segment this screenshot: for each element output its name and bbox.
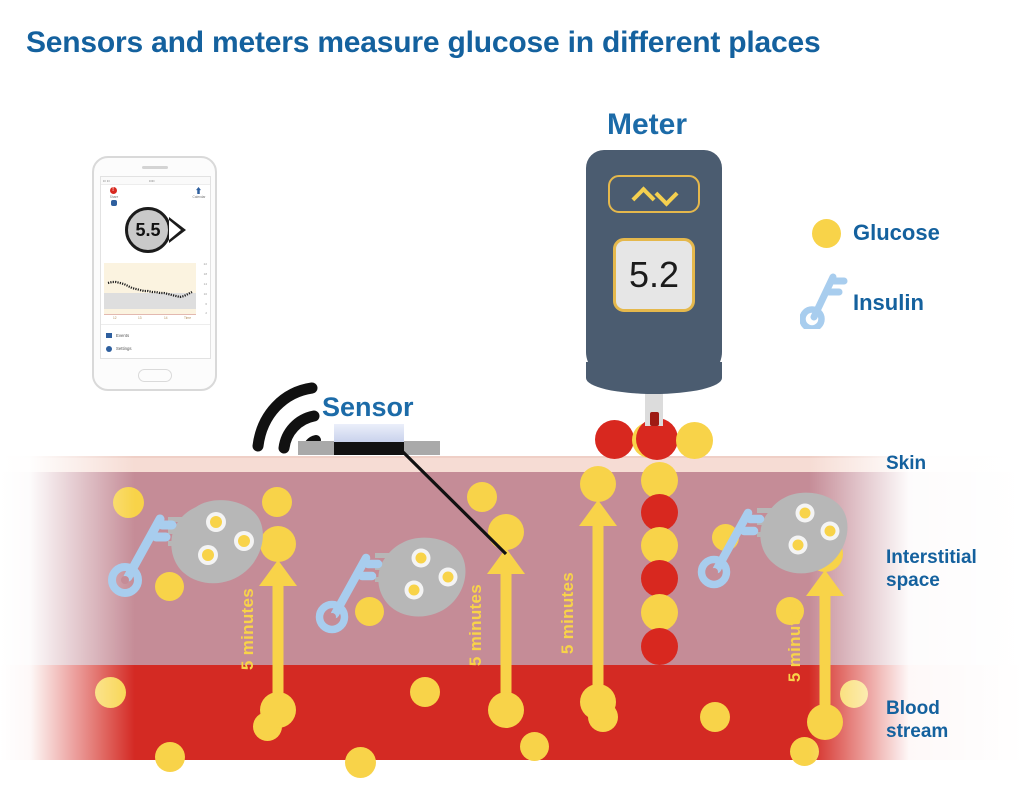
red-blood-cell [641,494,678,531]
red-blood-cell [641,560,678,597]
y-tick: 14 [204,282,207,286]
blood-drop-icon [650,412,659,426]
nav-label: Events [116,333,129,338]
glucose-molecule [155,742,185,772]
status-left-text: •• •• [103,178,110,183]
gear-icon [106,346,112,352]
layer-label-blood: Blood stream [886,697,948,743]
meter-display: 5.2 [613,238,695,312]
arrow-label: 5 minutes [238,588,258,670]
meter-label: Meter [607,108,687,142]
arrow-shaft [593,520,604,692]
body-cell [158,495,268,590]
glucose-molecule [345,747,376,778]
x-tick: Time [184,316,191,320]
glucose-molecule [641,527,678,564]
y-tick: 6 [205,302,207,306]
y-tick: 18 [204,272,207,276]
phone-status-bar: •• •• •••• [101,177,211,185]
glucose-molecule [676,422,713,459]
phone-footer-nav: Events Settings [101,324,211,358]
chevron-up-icon[interactable] [634,186,651,203]
glucose-molecule [700,702,730,732]
nav-label: Settings [116,346,132,351]
nav-item-settings[interactable]: Settings [106,346,132,351]
layer-label-line1: Interstitial [886,546,977,569]
share-icon-label: Share [101,195,127,199]
glucose-molecule [410,677,440,707]
chevron-down-icon[interactable] [657,186,674,203]
diffusion-arrow: 5 minutes [797,570,853,710]
phone-speaker [142,166,168,169]
sensor-adhesive-left [298,441,336,455]
insulin-key-icon [318,545,380,631]
sensor-transmitter-top [334,424,404,442]
y-tick: 22 [204,262,207,266]
phone-screen[interactable]: •• •• •••• Share Calendar 5.5 [100,176,211,359]
layer-label-line2: space [886,569,977,592]
phone-glucose-chart[interactable]: 22 18 14 10 6 2 12 13 14 Time [104,263,209,325]
alert-badge-icon[interactable] [110,187,117,194]
trend-arrow-inner [169,220,181,240]
glucose-circle-icon [812,219,841,248]
glucose-molecule [488,692,524,728]
layer-label-skin: Skin [886,452,926,475]
trend-icon[interactable] [111,200,117,206]
glucose-molecule [790,737,819,766]
nav-item-events[interactable]: Events [106,333,129,338]
cgm-sensor-patch[interactable] [298,424,410,460]
smartphone-app[interactable]: •• •• •••• Share Calendar 5.5 [92,156,217,391]
diffusion-arrow: 5 minutes [478,548,534,700]
phone-icon-row: Share Calendar [101,186,211,208]
layer-label-line1: Blood [886,697,948,720]
insulin-key-icon [700,500,762,586]
legend-label-glucose: Glucose [853,220,940,246]
sensor-label: Sensor [322,392,414,423]
legend-label-insulin: Insulin [853,290,924,316]
glucose-molecule [260,692,296,728]
glucose-meter[interactable]: 5.2 [586,150,722,378]
meter-navigation-buttons[interactable] [608,175,700,213]
glucose-molecule [580,466,616,502]
chart-x-axis: 12 13 14 Time [104,315,209,323]
arrow-shaft [820,590,831,712]
events-icon [106,333,112,338]
glucose-molecule [641,594,678,631]
body-cell [748,488,852,580]
x-tick: 14 [164,316,168,320]
page-title: Sensors and meters measure glucose in di… [26,26,821,60]
chart-trace [104,263,196,315]
layer-label-interstitial: Interstitial space [886,546,977,592]
phone-home-button[interactable] [138,369,172,382]
arrow-shaft [273,580,284,700]
x-tick: 13 [138,316,142,320]
arrow-label: 5 minutes [558,572,578,654]
glucose-molecule [807,704,843,740]
red-blood-cell [595,420,634,459]
arrow-label: 5 minutes [785,600,805,682]
insulin-key-icon [800,267,848,329]
x-tick: 12 [113,316,117,320]
glucose-molecule [580,684,616,720]
insulin-key-icon [110,505,174,595]
sensor-filament [398,449,516,559]
calendar-icon[interactable] [196,187,201,194]
phone-glucose-reading: 5.5 [125,207,171,253]
calendar-icon-label: Calendar [186,195,211,199]
glucose-molecule [520,732,549,761]
status-center-text: •••• [149,178,155,183]
layer-label-line2: stream [886,720,948,743]
y-tick: 10 [204,292,207,296]
sensor-base-strip [334,442,404,455]
diffusion-arrow: 5 minutes [570,500,626,692]
arrow-shaft [501,568,512,700]
glucose-molecule [95,677,126,708]
red-blood-cell [641,628,678,665]
infographic-canvas: Sensors and meters measure glucose in di… [0,0,1024,804]
